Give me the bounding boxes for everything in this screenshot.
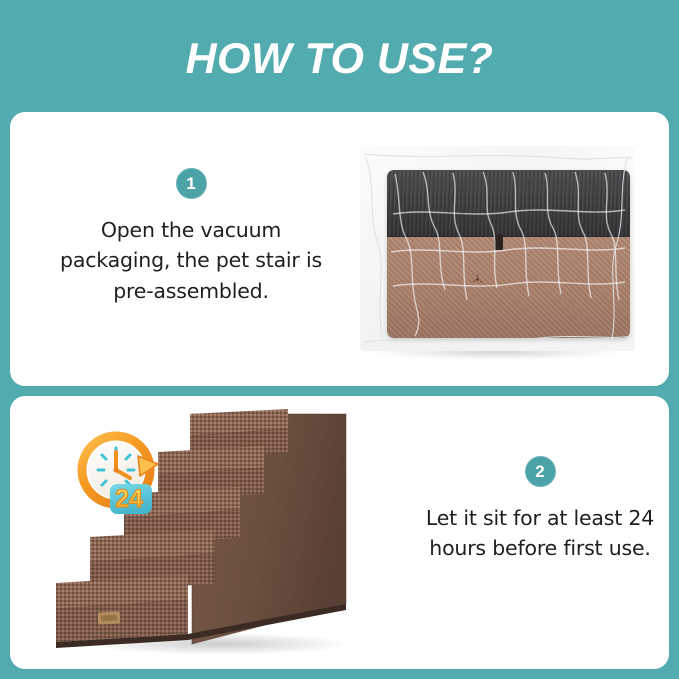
plastic-bag bbox=[360, 146, 635, 351]
step-2-block: 2 Let it sit for at least 24 hours befor… bbox=[395, 456, 669, 564]
page-title: HOW TO USE? bbox=[185, 35, 493, 84]
24-hour-clock-icon: 24 bbox=[72, 428, 168, 524]
step-card-1: 1 Open the vacuum packaging, the pet sta… bbox=[10, 112, 669, 386]
recycle-icon bbox=[472, 274, 483, 285]
package-body bbox=[387, 237, 630, 338]
compressed-product-block bbox=[387, 170, 630, 338]
header-banner: HOW TO USE? bbox=[0, 0, 679, 112]
step-1-block: 1 Open the vacuum packaging, the pet sta… bbox=[46, 168, 336, 306]
product-care-tag bbox=[494, 234, 503, 250]
step-card-2: 24 2 Let it sit for at least 24 hours be… bbox=[10, 396, 669, 669]
how-to-use-infographic: HOW TO USE? 1 Open the vacuum packaging,… bbox=[0, 0, 679, 679]
brand-tag bbox=[98, 611, 121, 624]
vacuum-package-image bbox=[348, 130, 648, 368]
24-badge-label: 24 bbox=[115, 485, 143, 513]
24-hour-badge: 24 bbox=[110, 484, 152, 514]
pet-stair-image: 24 bbox=[50, 406, 380, 658]
step-2-badge: 2 bbox=[525, 456, 556, 487]
step-1-badge: 1 bbox=[176, 168, 207, 199]
step-2-text: Let it sit for at least 24 hours before … bbox=[395, 503, 669, 564]
package-top-band bbox=[387, 170, 630, 237]
step-1-text: Open the vacuum packaging, the pet stair… bbox=[46, 215, 336, 306]
